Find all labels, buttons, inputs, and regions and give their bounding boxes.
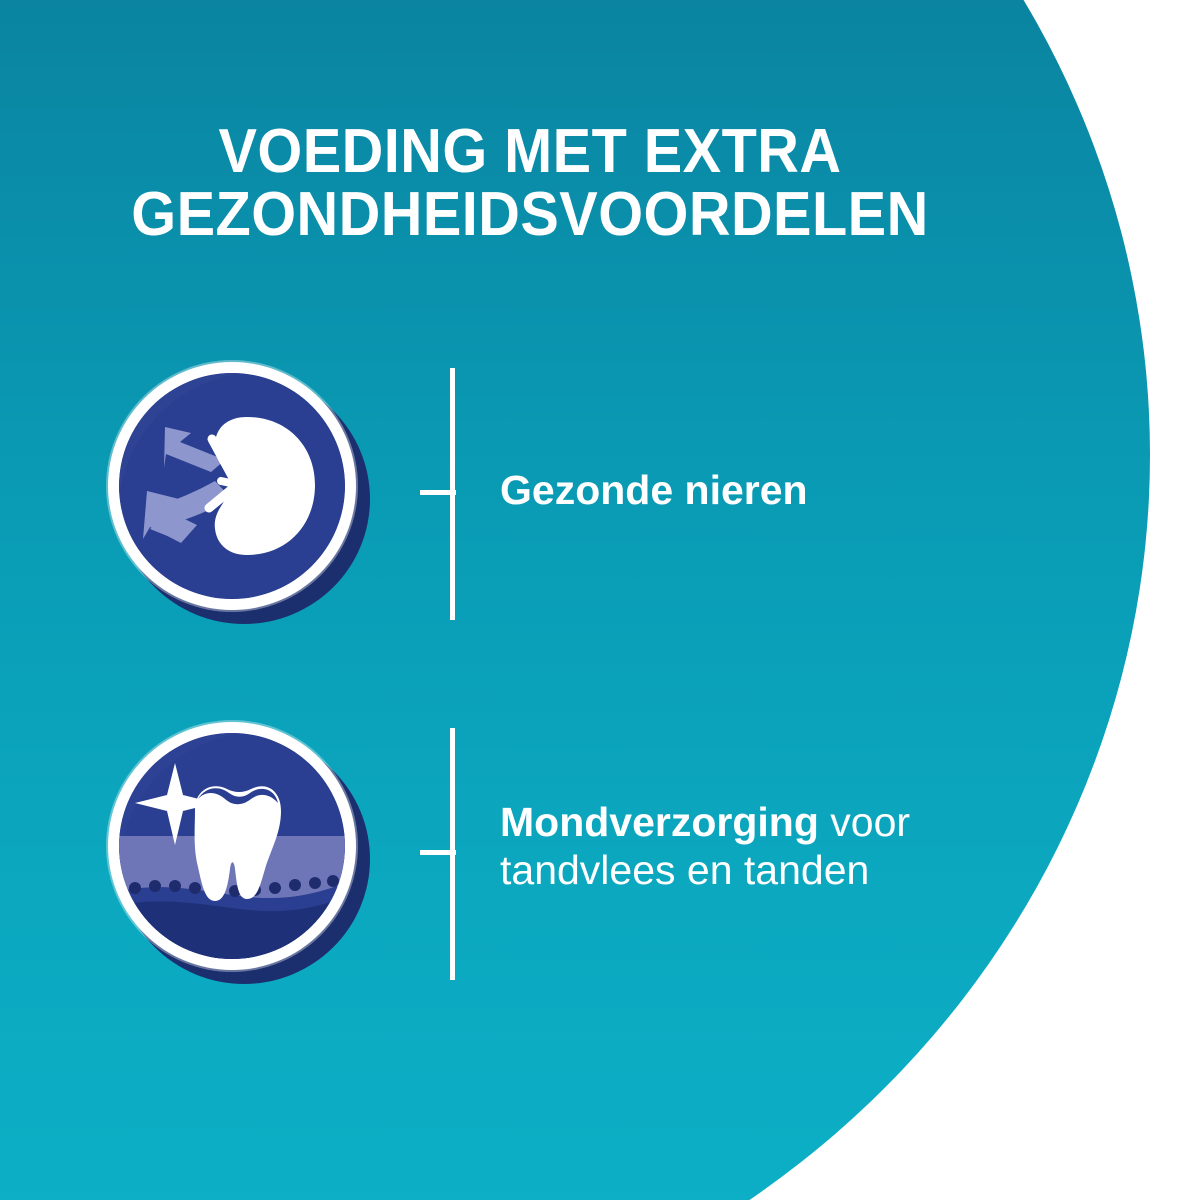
- benefit-label-kidney: Gezonde nieren: [500, 466, 1020, 514]
- benefit-row-oral: Mondverzorging voor tandvlees en tanden: [0, 722, 1060, 982]
- connector-tick-mark: [420, 850, 456, 855]
- poster-canvas: VOEDING MET EXTRA GEZONDHEIDSVOORDELEN: [0, 0, 1200, 1200]
- page-title: VOEDING MET EXTRA GEZONDHEIDSVOORDELEN: [37, 120, 1023, 248]
- connector-vertical-line: [450, 368, 455, 620]
- connector-vertical-line: [450, 728, 455, 980]
- page-title-line-2: GEZONDHEIDSVOORDELEN: [37, 183, 1023, 247]
- kidney-icon: [119, 373, 345, 599]
- benefit-label-oral: Mondverzorging voor tandvlees en tanden: [500, 798, 1020, 895]
- benefit-badge-oral: [108, 722, 370, 984]
- benefit-label-strong: Gezonde nieren: [500, 467, 808, 513]
- benefit-badge-kidney: [108, 362, 370, 624]
- tooth-icon: [119, 733, 345, 959]
- benefit-label-strong: Mondverzorging: [500, 799, 819, 845]
- benefit-row-kidney: Gezonde nieren: [0, 362, 1060, 622]
- page-title-line-1: VOEDING MET EXTRA: [37, 120, 1023, 184]
- connector-tick-mark: [420, 490, 456, 495]
